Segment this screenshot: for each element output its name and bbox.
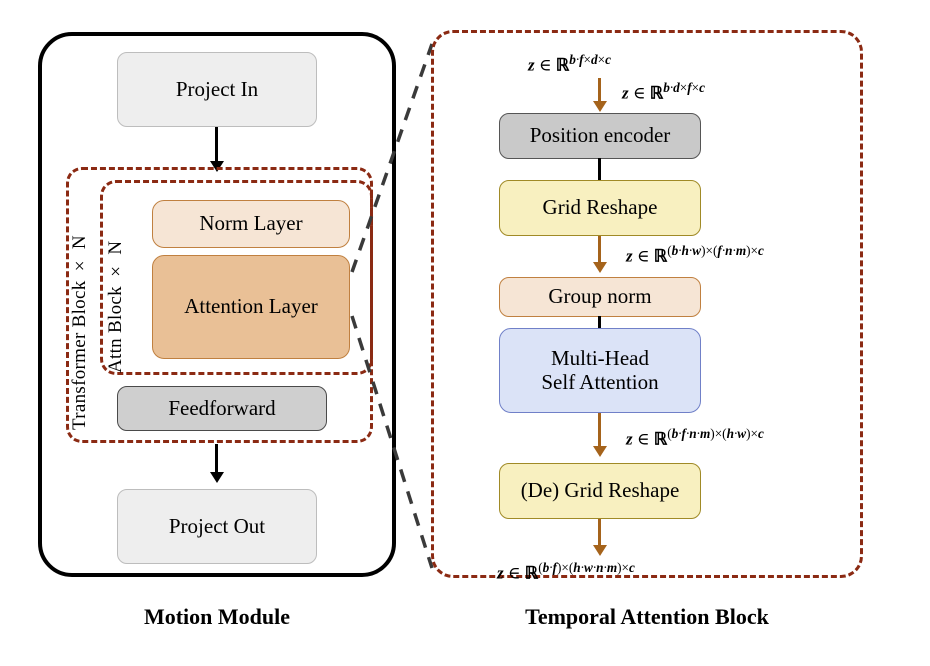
node-project-in-label: Project In: [176, 78, 258, 102]
arrow-mhsa-to-degrid-head: [593, 446, 607, 457]
transformer-block-label: Transformer Block × N: [70, 190, 89, 430]
node-position-encoder[interactable]: Position encoder: [499, 113, 701, 159]
node-project-in[interactable]: Project In: [117, 52, 317, 127]
node-position-encoder-label: Position encoder: [530, 124, 671, 148]
node-project-out-label: Project Out: [169, 515, 265, 539]
node-feedforward[interactable]: Feedforward: [117, 386, 327, 431]
caption-temporal-attention-block: Temporal Attention Block: [431, 604, 863, 630]
annotation-grid-shape: z ∈ ℝ(b·h·w)×(f·n·m)×c: [626, 243, 764, 267]
diagram-canvas: Project In Transformer Block × N Attn Bl…: [0, 0, 930, 666]
node-attention-layer[interactable]: Attention Layer: [152, 255, 350, 359]
arrow-mhsa-to-degrid-line: [598, 413, 601, 450]
node-mhsa-label-line1: Multi-Head: [541, 347, 658, 371]
connector-posenc-to-gridreshape: [598, 158, 601, 181]
arrow-input-to-posenc-head: [593, 101, 607, 112]
node-attention-layer-label: Attention Layer: [184, 295, 318, 319]
node-de-grid-reshape-label: (De) Grid Reshape: [521, 479, 680, 503]
node-feedforward-label: Feedforward: [168, 397, 275, 421]
annotation-output-shape: z ∈ ℝ(b·f)×(h·w·n·m)×c: [497, 560, 635, 584]
arrow-feedforward-to-project-out-head: [210, 472, 224, 483]
node-de-grid-reshape[interactable]: (De) Grid Reshape: [499, 463, 701, 519]
arrow-degrid-to-output-head: [593, 545, 607, 556]
node-norm-layer-label: Norm Layer: [199, 212, 302, 236]
node-project-out[interactable]: Project Out: [117, 489, 317, 564]
attn-block-label: Attn Block × N: [106, 198, 125, 373]
arrow-gridreshape-to-groupnorm-head: [593, 262, 607, 273]
node-multi-head-self-attention[interactable]: Multi-Head Self Attention: [499, 328, 701, 413]
annotation-input-shape: z ∈ ℝb·f×d×c: [528, 52, 611, 76]
node-group-norm[interactable]: Group norm: [499, 277, 701, 317]
node-grid-reshape-label: Grid Reshape: [543, 196, 658, 220]
annotation-attn-shape: z ∈ ℝ(b·f·n·m)×(h·w)×c: [626, 426, 764, 450]
caption-motion-module: Motion Module: [38, 604, 396, 630]
node-group-norm-label: Group norm: [548, 285, 651, 309]
node-norm-layer[interactable]: Norm Layer: [152, 200, 350, 248]
node-grid-reshape[interactable]: Grid Reshape: [499, 180, 701, 236]
node-mhsa-label-line2: Self Attention: [541, 371, 658, 395]
annotation-permuted-shape: z ∈ ℝb·d×f×c: [622, 80, 705, 104]
